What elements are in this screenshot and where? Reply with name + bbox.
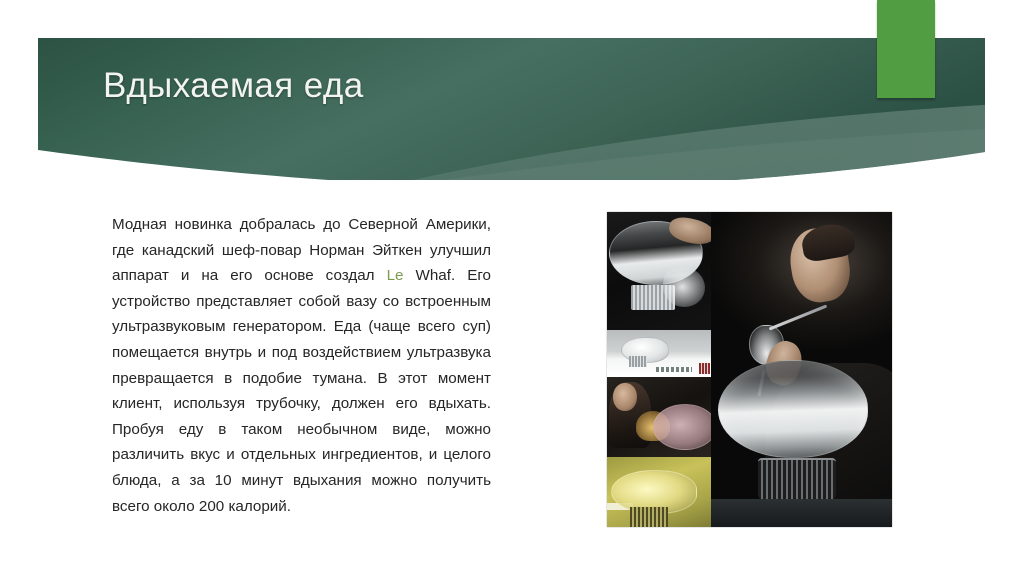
page-title: Вдыхаемая еда xyxy=(103,64,843,108)
slide-canvas: Вдыхаемая еда Модная новинка добралась д… xyxy=(0,0,1024,576)
collage-panel-product-shot xyxy=(607,330,711,377)
fog-cloud xyxy=(663,267,705,307)
table-surface xyxy=(711,499,892,527)
le-whaf-vase xyxy=(718,360,868,458)
drinking-straw xyxy=(769,304,828,330)
accent-bar xyxy=(877,0,935,98)
le-whaf-photo-collage xyxy=(607,212,892,527)
body-text-part-2: Whaf. Его устройство представляет собой … xyxy=(112,267,491,514)
woman-face xyxy=(613,383,637,411)
body-paragraph: Модная новинка добралась до Северной Аме… xyxy=(112,212,491,519)
publication-logo xyxy=(699,363,710,374)
collage-panel-chef-inhaling xyxy=(711,212,892,527)
collage-panel-yellow-vase xyxy=(607,457,711,527)
collage-panel-vase-with-fog-pour xyxy=(607,212,711,330)
product-vase-base xyxy=(629,356,647,367)
yellow-vase-base xyxy=(630,507,668,527)
collage-panel-woman-inhaling xyxy=(607,377,711,457)
arabic-caption-text xyxy=(656,367,692,372)
body-accent-word: Le xyxy=(387,267,404,284)
pink-fog-vase xyxy=(653,404,711,450)
le-whaf-vase-base xyxy=(758,458,836,500)
